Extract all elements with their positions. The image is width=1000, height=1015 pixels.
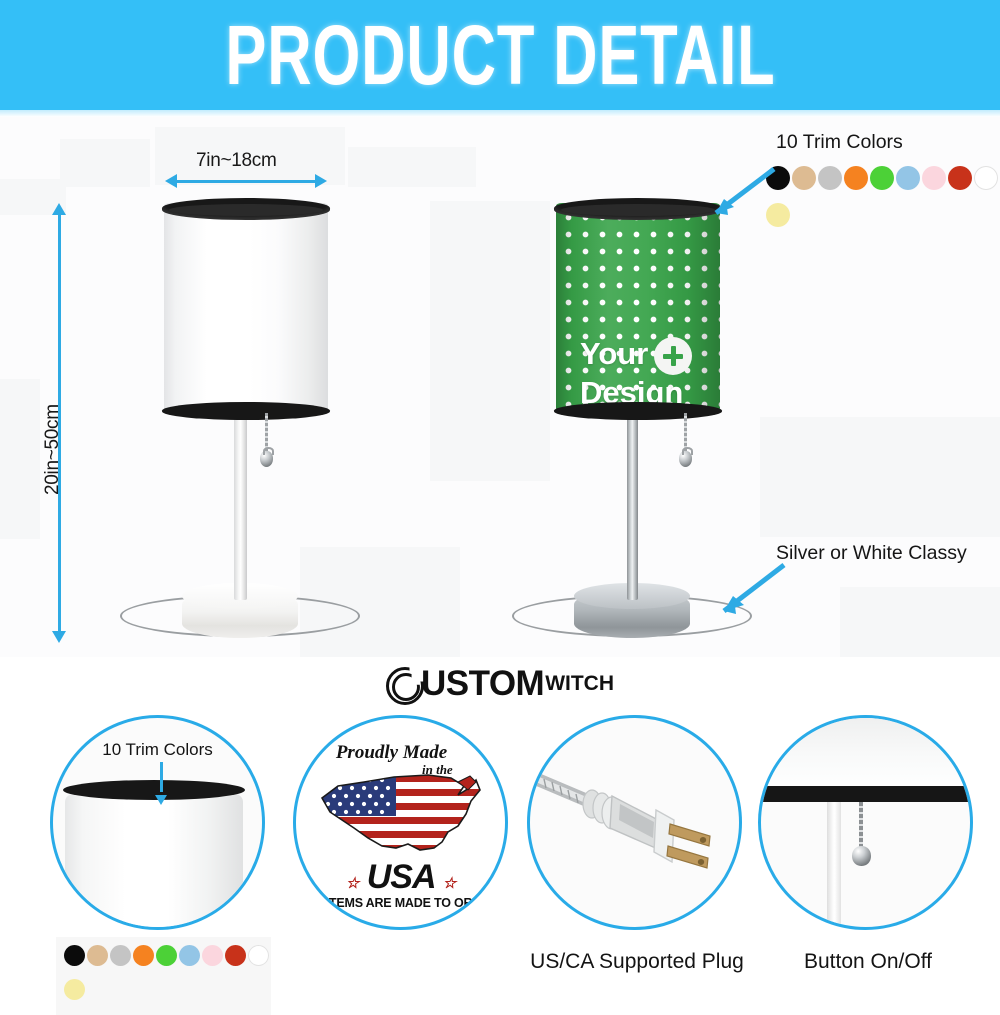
trim-swatch-gray[interactable] <box>110 945 131 966</box>
your-design-text: Your <box>556 337 720 375</box>
width-dimension-arrow <box>165 174 327 188</box>
lamp-pole-closeup <box>827 802 841 930</box>
trim-swatch-orange[interactable] <box>133 945 154 966</box>
panel-circle-frame <box>758 715 973 930</box>
trim-swatch-white[interactable] <box>248 945 269 966</box>
swatch-row-1 <box>766 166 1000 195</box>
trim-colors-pointer-arrow <box>694 163 780 227</box>
panel-switch: Button On/Off <box>758 715 978 1000</box>
bg-block <box>840 587 1000 657</box>
pull-chain-closeup <box>859 802 863 848</box>
seal-big-text: ☆ USA ☆ <box>296 858 505 897</box>
height-dimension-label: 20in~50cm <box>42 404 64 495</box>
shade-closeup-body <box>65 794 243 930</box>
bg-block <box>760 417 1000 537</box>
arrow-head-right <box>315 174 327 188</box>
bg-block <box>348 147 476 187</box>
trim-swatch-red[interactable] <box>225 945 246 966</box>
trim-swatch-green[interactable] <box>156 945 177 966</box>
panel-made-in-usa: Proudly Made in the <box>293 715 513 1000</box>
trim-swatch-tan[interactable] <box>87 945 108 966</box>
seal-star-left: ☆ <box>346 875 358 892</box>
seal-line-top: Proudly Made <box>296 742 505 764</box>
pull-chain-bead-silver[interactable] <box>679 451 692 467</box>
shade-trim-highlight <box>561 204 716 216</box>
brand-word-primary: USTOM <box>421 664 544 704</box>
brand-word-secondary: WITCH <box>545 674 614 694</box>
trim-colors-panel-label: 10 Trim Colors <box>102 740 213 759</box>
shade-trim-bottom-closeup <box>758 786 973 802</box>
panel-circle-frame <box>527 715 742 930</box>
trim-swatch-green[interactable] <box>870 166 894 190</box>
brand-logo-inner: USTOM WITCH <box>386 664 614 704</box>
plus-icon[interactable] <box>654 337 692 375</box>
trim-swatch-orange[interactable] <box>844 166 868 190</box>
arrow-shaft <box>174 180 318 183</box>
lamp-pole-white <box>234 410 247 600</box>
trim-colors-panel-label-wrap: 10 Trim Colors <box>53 740 262 760</box>
lamp-shade-white <box>164 203 328 411</box>
trim-colors-swatch-row-top <box>766 162 1000 232</box>
bg-block <box>60 139 150 187</box>
trim-colors-callout-label: 10 Trim Colors <box>776 131 903 154</box>
lamp-pole-silver <box>627 410 638 600</box>
shade-bottom-closeup <box>758 715 973 790</box>
shade-trim-highlight <box>169 204 324 216</box>
bg-block <box>0 379 40 539</box>
your-design-line1: Your <box>580 336 648 371</box>
brand-word-secondary-box: WITCH <box>545 674 614 694</box>
trim-swatch-gray[interactable] <box>818 166 842 190</box>
trim-swatch-pink[interactable] <box>202 945 223 966</box>
seal-usa-word: USA <box>367 858 435 896</box>
swatch-row-2 <box>64 979 265 1005</box>
arrow-shaft <box>160 762 163 792</box>
shade-trim-bottom-white <box>162 402 330 420</box>
panel-plug: US/CA Supported Plug <box>527 715 747 1000</box>
main-product-area: 7in~18cm 20in~50cm <box>0 117 1000 657</box>
arrow-head-left <box>165 174 177 188</box>
custom-witch-c-mark-icon <box>386 667 420 701</box>
pull-chain-bead-white[interactable] <box>260 451 273 467</box>
trim-swatch-pink[interactable] <box>922 166 946 190</box>
panel-trim-colors: 10 Trim Colors <box>50 715 270 1000</box>
pull-chain-white <box>265 413 268 451</box>
trim-swatch-light-blue[interactable] <box>896 166 920 190</box>
brand-logo: USTOM WITCH <box>0 664 1000 706</box>
shade-surface <box>164 203 328 411</box>
bg-block <box>430 201 550 481</box>
swatch-row-2 <box>766 203 1000 232</box>
arrow-head-bottom <box>52 631 66 643</box>
panel-switch-caption: Button On/Off <box>758 950 978 974</box>
header-band: PRODUCT DETAIL <box>0 0 1000 110</box>
base-finish-pointer-arrow <box>700 557 790 627</box>
arrow-head-top <box>52 203 66 215</box>
panel-circle-frame: Proudly Made in the <box>293 715 508 930</box>
width-dimension-label: 7in~18cm <box>196 150 277 172</box>
swatch-row-1 <box>64 945 265 971</box>
page-title: PRODUCT DETAIL <box>225 7 775 103</box>
seal-subtext: ALL ITEMS ARE MADE TO ORDER! <box>296 896 505 910</box>
trim-colors-swatch-grid-bottom <box>56 937 271 1015</box>
trim-swatch-white[interactable] <box>974 166 998 190</box>
seal-star-right: ☆ <box>443 875 455 892</box>
shade-trim-top-white <box>162 198 330 220</box>
trim-colors-panel-arrow <box>155 762 167 796</box>
product-detail-infographic: PRODUCT DETAIL 7in~18cm 20in~50cm <box>0 0 1000 1000</box>
base-finish-callout-label: Silver or White Classy <box>776 542 967 565</box>
trim-swatch-light-blue[interactable] <box>179 945 200 966</box>
pull-chain-bead-closeup[interactable] <box>852 846 871 866</box>
usa-flag-map-icon <box>308 768 500 866</box>
shade-trim-bottom-green <box>554 402 722 420</box>
header-shadow <box>0 110 1000 117</box>
shade-closeup-trim <box>63 780 245 800</box>
pull-chain-silver <box>684 413 687 451</box>
trim-swatch-yellow[interactable] <box>64 979 85 1000</box>
trim-swatch-tan[interactable] <box>792 166 816 190</box>
lamp-shade-green[interactable]: Your Design <box>556 203 720 411</box>
arrow-head <box>155 795 167 805</box>
trim-swatch-black[interactable] <box>64 945 85 966</box>
usa-seal: Proudly Made in the <box>296 718 505 927</box>
panel-plug-caption: US/CA Supported Plug <box>527 950 747 974</box>
two-prong-plug-icon <box>534 766 739 896</box>
panel-circle-frame: 10 Trim Colors <box>50 715 265 930</box>
trim-swatch-red[interactable] <box>948 166 972 190</box>
